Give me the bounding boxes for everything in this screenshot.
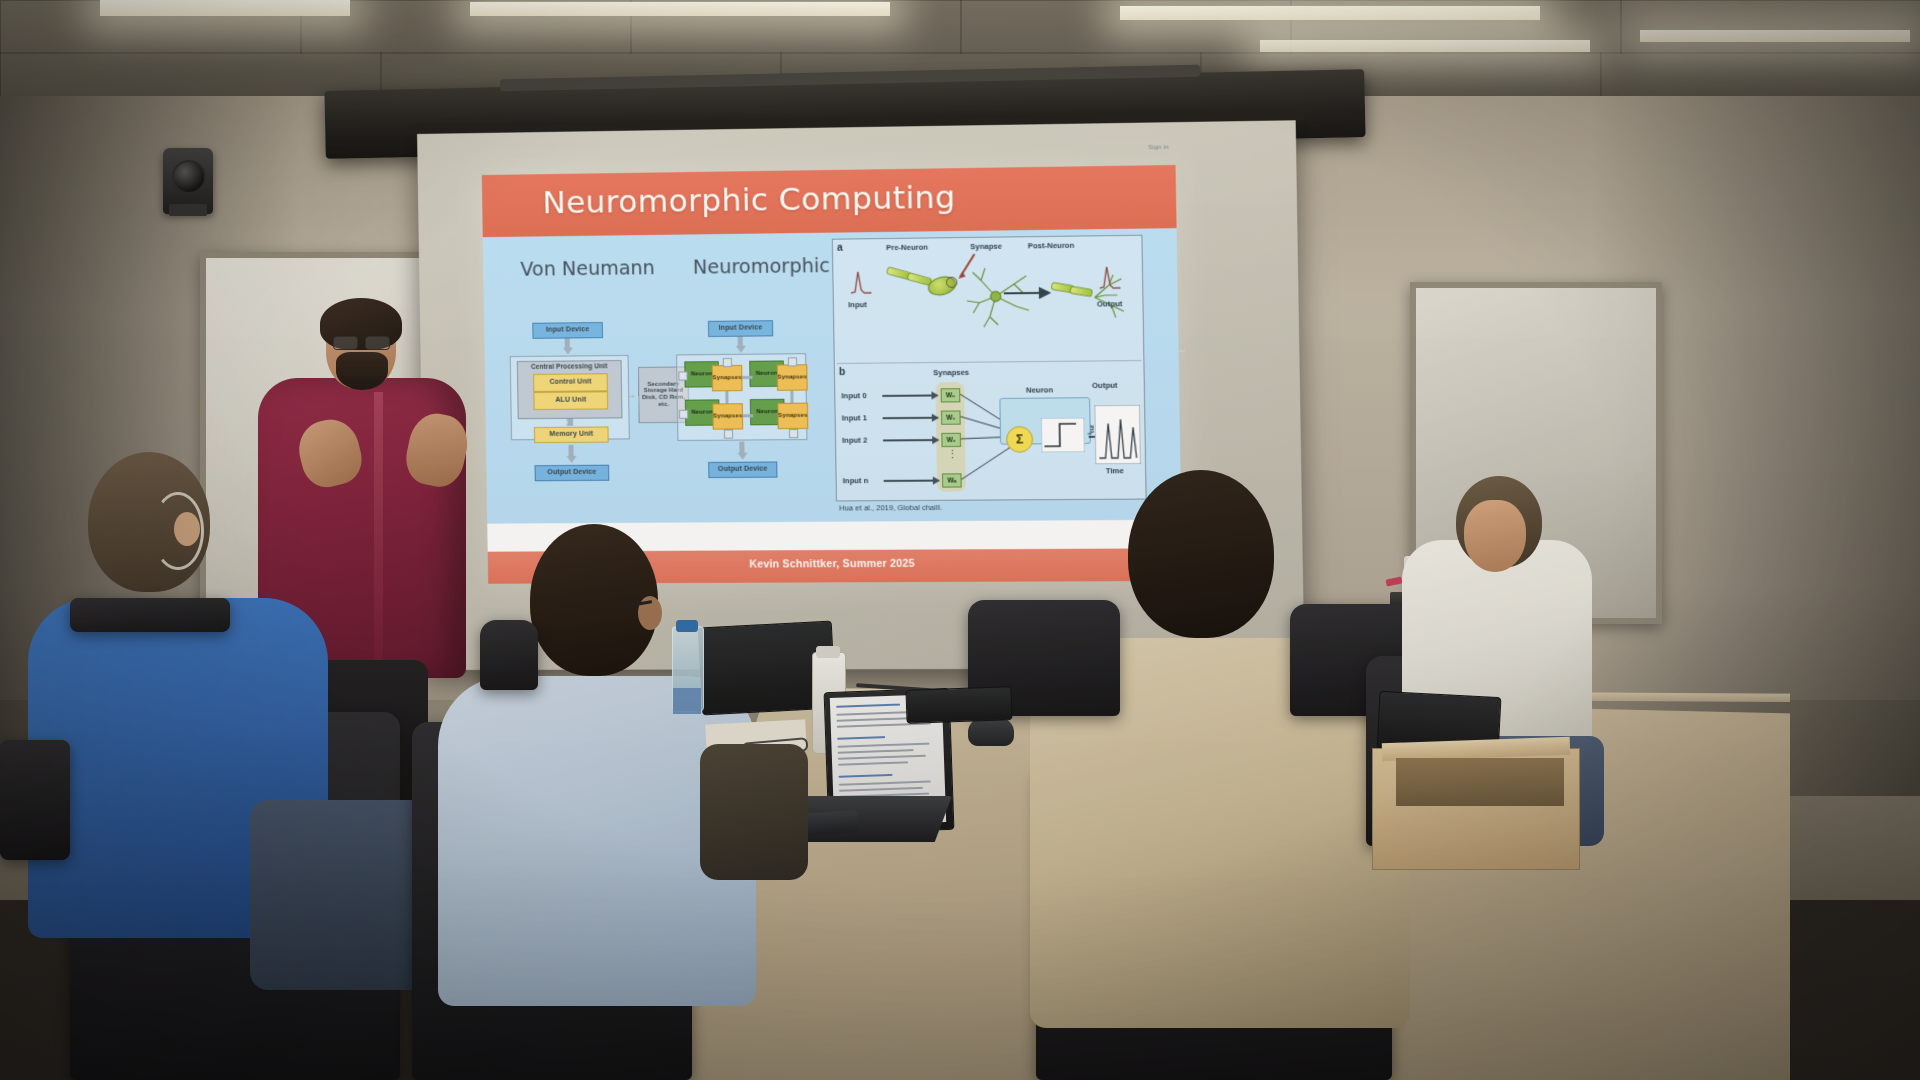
doc-line — [838, 749, 914, 753]
label-output: Output — [1097, 299, 1123, 308]
nm-synapse: Synapses — [777, 364, 808, 391]
nm-arrow-down-icon — [735, 346, 745, 353]
ceiling-light — [100, 0, 350, 16]
figure-panel-b-letter: b — [839, 367, 845, 378]
nm-port — [723, 358, 732, 367]
bottle-label — [673, 688, 701, 714]
jeans — [250, 800, 430, 990]
figure-divider — [837, 360, 1141, 364]
ceiling-light — [1260, 40, 1590, 52]
vn-arrow-down-icon — [566, 456, 576, 463]
input-n-label: Input n — [843, 476, 869, 485]
audience-head — [530, 524, 658, 676]
input-2-arrow-icon — [883, 439, 938, 441]
doc-line — [837, 736, 885, 740]
summation-node: Σ — [1006, 426, 1033, 453]
slide-title: Neuromorphic Computing — [542, 179, 956, 221]
input-n-arrow-icon — [884, 480, 939, 482]
vn-alu-unit: ALU Unit — [533, 391, 608, 410]
camera-lens-icon — [172, 160, 206, 194]
vn-control-unit: Control Unit — [533, 373, 608, 392]
weight-2: W₂ — [941, 433, 961, 447]
nm-connector — [742, 376, 752, 379]
axis-label-current: Iout — [1087, 425, 1096, 435]
label-synapse: Synapse — [970, 242, 1002, 252]
presenter-shirt-placket — [374, 392, 383, 664]
input-2-label: Input 2 — [842, 436, 867, 445]
bottle-cap-icon — [816, 646, 840, 658]
ceiling-camera — [163, 148, 213, 214]
vn-arrow-down-icon — [562, 347, 572, 354]
heading-neuromorphic: Neuromorphic — [693, 255, 830, 279]
nm-output-device: Output Device — [708, 461, 777, 478]
cardboard-box-inner — [1396, 758, 1564, 806]
axis-label-time: Time — [1106, 466, 1124, 475]
figure-citation: Hua et al., 2019, Global chaiII. — [839, 503, 942, 513]
research-figure: a Pre-Neuron Synapse Post-Neuron Input — [832, 235, 1147, 502]
nm-input-device: Input Device — [708, 320, 773, 337]
label-pre-neuron: Pre-Neuron — [886, 243, 928, 253]
figure-panel-a-letter: a — [837, 243, 843, 254]
nm-synapse: Synapses — [712, 403, 743, 429]
doc-line — [838, 755, 926, 760]
chair — [480, 620, 538, 690]
input-0-label: Input 0 — [841, 391, 866, 400]
doc-line — [838, 761, 908, 765]
input-spike-waveform — [850, 268, 873, 295]
step-activation-icon — [1041, 418, 1085, 453]
output-spike-train-plot — [1094, 405, 1140, 464]
mask-strap — [152, 492, 204, 570]
label-input: Input — [848, 300, 867, 309]
output-spike-waveform — [1098, 262, 1121, 289]
bottle-cap-icon — [676, 620, 698, 632]
presenter-beard — [336, 352, 388, 390]
ceiling-light — [470, 2, 890, 16]
vn-cpu-label: Central Processing Unit — [518, 363, 621, 371]
vn-memory-unit: Memory Unit — [534, 426, 609, 443]
vn-input-device: Input Device — [532, 322, 603, 339]
laptop-closed[interactable] — [905, 686, 1012, 724]
label-synapses: Synapses — [933, 368, 969, 377]
nm-connector — [725, 391, 728, 403]
doc-line — [839, 787, 923, 791]
audience-face — [1464, 500, 1526, 572]
nm-port — [678, 371, 687, 380]
doc-line — [837, 743, 929, 748]
nm-port — [788, 357, 797, 366]
weight-0: W₀ — [941, 388, 961, 402]
nm-port — [789, 429, 798, 438]
input-1-arrow-icon — [883, 417, 938, 419]
input-0-arrow-icon — [882, 394, 937, 397]
audience-head — [1128, 470, 1274, 638]
nm-synapse: Synapses — [712, 365, 743, 391]
vn-output-device: Output Device — [535, 465, 610, 482]
vn-arrow-leftright-icon: ↔ — [625, 388, 637, 400]
ceiling-light — [1640, 30, 1910, 42]
nm-connector — [790, 391, 793, 403]
slide-body: Von Neumann Neuromorphic Input Device Ce… — [483, 228, 1181, 523]
ceiling-light — [1120, 6, 1540, 20]
backpack — [700, 744, 808, 880]
weight-1: W₁ — [941, 410, 961, 424]
ellipsis-vertical-icon: ⋮ — [947, 453, 958, 458]
weight-n: Wₙ — [942, 473, 962, 487]
label-post-neuron: Post-Neuron — [1028, 241, 1075, 251]
screenshot-root: Sign in KEVIN SCHNITT... KEVIN SCHNITTKE… — [0, 0, 1920, 1080]
heading-von-neumann: Von Neumann — [520, 257, 655, 281]
input-1-label: Input 1 — [842, 413, 867, 422]
doc-line — [839, 774, 893, 778]
label-output-column: Output — [1092, 381, 1118, 390]
label-neuron: Neuron — [1026, 385, 1053, 394]
chair — [70, 598, 230, 632]
nm-port — [679, 410, 688, 419]
nm-port — [724, 430, 733, 439]
presentation-slide: Neuromorphic Computing Von Neumann Neuro… — [482, 165, 1182, 584]
doc-line — [839, 781, 931, 786]
camera-base — [169, 204, 207, 216]
presenter-glasses-icon — [333, 336, 393, 349]
nm-synapse: Synapses — [777, 403, 808, 430]
transmission-arrow-icon — [1004, 286, 1052, 301]
nm-arrow-down-icon — [737, 453, 747, 460]
computer-mouse[interactable] — [968, 718, 1014, 746]
sign-in-link[interactable]: Sign in — [1148, 145, 1169, 151]
chair — [0, 740, 70, 860]
nm-connector — [743, 414, 753, 417]
doc-line — [836, 704, 900, 708]
